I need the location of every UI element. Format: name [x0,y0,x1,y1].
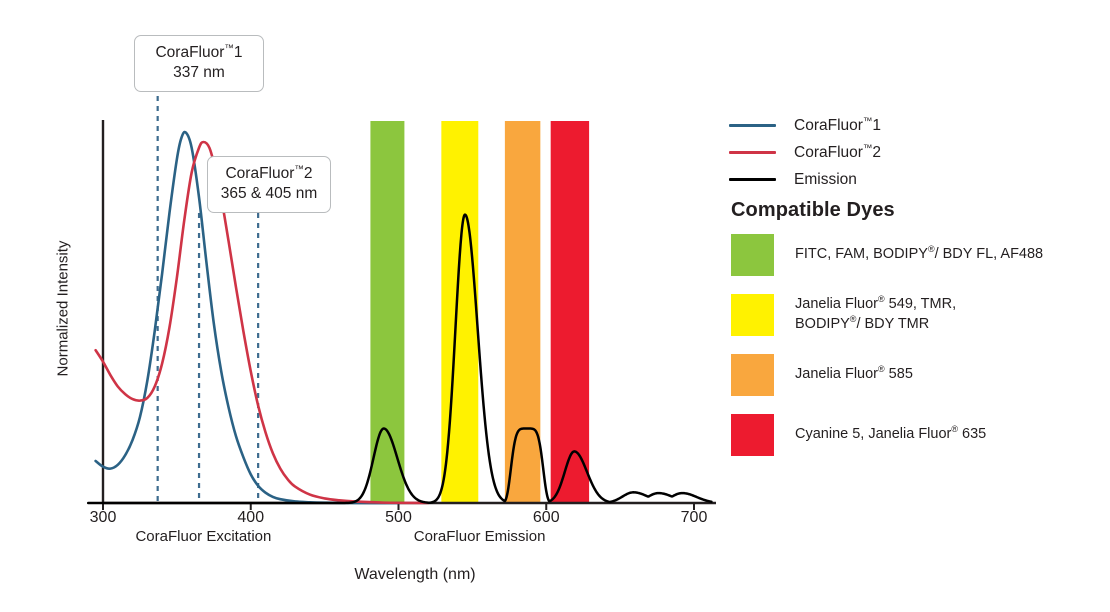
registered-symbol: ® [878,295,885,305]
compatible-dyes-heading: Compatible Dyes [731,199,895,222]
red-band [551,121,589,503]
trademark-symbol: ™ [863,115,873,126]
orange-band [505,121,540,503]
legend-row-emission: Emission [729,166,1079,193]
legend-line-swatch-emission [729,178,776,181]
emission-bands-group [370,121,589,503]
compatible-dyes-list: FITC, FAM, BODIPY®/ BDY FL, AF488Janelia… [731,234,1091,474]
dye-label-red-band: Cyanine 5, Janelia Fluor® 635 [795,425,986,445]
registered-symbol: ® [850,314,857,324]
x-tick-label-400: 400 [221,509,281,527]
legend-row-corafluor-1: CoraFluor™1 [729,112,1079,139]
trademark-symbol: ™ [224,43,234,54]
region-label-emission: CoraFluor Emission [414,528,546,545]
figure-root: CoraFluor™1 337 nm CoraFluor™2 365 & 405… [0,0,1110,612]
x-tick-label-600: 600 [516,509,576,527]
registered-symbol: ® [951,424,958,434]
trademark-symbol: ™ [294,164,304,175]
dye-swatch-yellow-band [731,294,774,336]
trademark-symbol: ™ [863,142,873,153]
legend-row-corafluor-2: CoraFluor™2 [729,139,1079,166]
dye-label-green-band: FITC, FAM, BODIPY®/ BDY FL, AF488 [795,245,1043,265]
callout-cf2-line1: CoraFluor™2 [220,164,318,184]
dye-label-orange-band: Janelia Fluor® 585 [795,365,913,385]
y-axis-title: Normalized Intensity [55,219,72,399]
x-tick-label-500: 500 [369,509,429,527]
region-label-excitation: CoraFluor Excitation [135,528,271,545]
x-tick-label-700: 700 [664,509,724,527]
dye-row-orange-band: Janelia Fluor® 585 [731,354,1091,396]
callout-cf1-line1: CoraFluor™1 [147,43,251,63]
registered-symbol: ® [878,364,885,374]
dye-row-green-band: FITC, FAM, BODIPY®/ BDY FL, AF488 [731,234,1091,276]
x-axis-title: Wavelength (nm) [285,566,545,584]
dye-swatch-red-band [731,414,774,456]
callout-cf2-line2: 365 & 405 nm [220,184,318,204]
legend-line-swatch-corafluor-2 [729,151,776,154]
legend-label-emission: Emission [794,171,857,189]
series-legend: CoraFluor™1CoraFluor™2Emission [729,112,1079,193]
callout-corafluor-2: CoraFluor™2 365 & 405 nm [207,156,331,213]
dye-label-yellow-band: Janelia Fluor® 549, TMR,BODIPY®/ BDY TMR [795,295,956,334]
dye-row-yellow-band: Janelia Fluor® 549, TMR,BODIPY®/ BDY TMR [731,294,1091,336]
legend-line-swatch-corafluor-1 [729,124,776,127]
callout-corafluor-1: CoraFluor™1 337 nm [134,35,264,92]
dye-swatch-orange-band [731,354,774,396]
registered-symbol: ® [928,244,935,254]
callout-cf1-line2: 337 nm [147,63,251,83]
legend-label-corafluor-2: CoraFluor™2 [794,144,881,162]
x-tick-label-300: 300 [73,509,133,527]
dye-swatch-green-band [731,234,774,276]
dye-row-red-band: Cyanine 5, Janelia Fluor® 635 [731,414,1091,456]
axis-lines-group [102,120,716,510]
legend-label-corafluor-1: CoraFluor™1 [794,117,881,135]
